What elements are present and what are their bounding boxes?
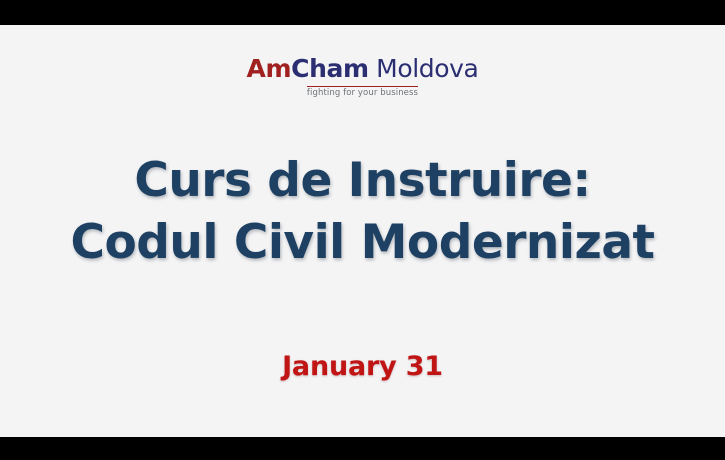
logo-divider-rule (307, 86, 418, 87)
logo-wordmark: AmCham Moldova (0, 55, 725, 82)
amcham-logo: AmCham Moldova fighting for your busines… (0, 55, 725, 100)
slide-date: January 31 (0, 350, 725, 384)
letterbox-bar-bottom (0, 437, 725, 460)
logo-tagline-row: fighting for your business (307, 88, 418, 99)
letterbox-bar-top (0, 0, 725, 25)
logo-text-moldova: Moldova (369, 54, 479, 83)
presentation-slide: AmCham Moldova fighting for your busines… (0, 0, 725, 460)
title-line-1: Curs de Instruire: (0, 150, 725, 212)
logo-text-cham: Cham (291, 54, 368, 83)
title-line-2: Codul Civil Modernizat (0, 212, 725, 274)
slide-title: Curs de Instruire: Codul Civil Moderniza… (0, 150, 725, 274)
logo-tagline: fighting for your business (307, 88, 418, 99)
slide-content-area: AmCham Moldova fighting for your busines… (0, 25, 725, 437)
date-text: January 31 (0, 350, 725, 384)
logo-text-am: Am (247, 54, 292, 83)
